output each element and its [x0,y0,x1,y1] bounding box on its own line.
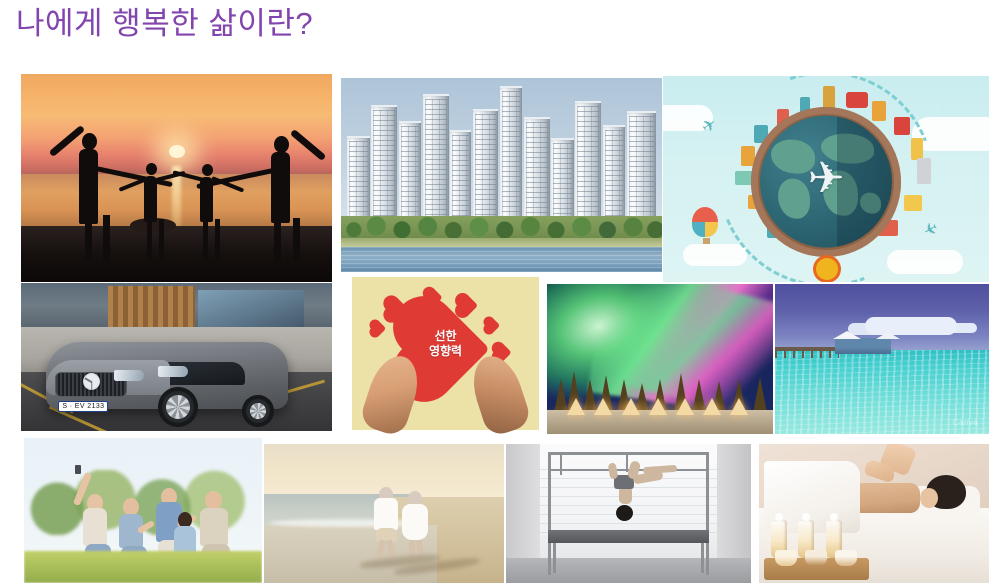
image-caption: 강변의 고층 아파트 단지 스카이라인 [341,271,342,272]
cloud-icon [683,244,747,266]
image-family-sunset-silhouette[interactable]: 해변에서 손을 잡고 팔을 들어올린 가족 실루엣과 일몰 [21,74,332,282]
apartment-tower [575,101,601,221]
apartment-tower [603,125,625,222]
apartment-tower [450,130,471,221]
child-one-torso [144,176,157,222]
teepee-tent [703,398,721,415]
image-aurora-borealis-camp[interactable]: 오로라가 펼쳐진 설원의 텐트 캠프 [547,284,773,434]
child-two-leg-right [215,219,220,261]
child-one-leg-right [159,219,164,261]
apparatus-top-bar [548,452,710,455]
apparatus-strap [560,452,562,474]
smartphone-icon [75,465,81,474]
world-travel-artwork: ✈ ✈ ✈ ✈ [663,76,989,282]
apartment-tower [551,138,573,221]
river [341,247,662,272]
heart-icon [484,318,500,334]
adult-left-torso [79,149,98,224]
apparatus-leg [701,543,704,574]
image-caption: 에메랄드빛 바다와 수상 방갈로 리조트 [775,433,776,434]
temple-icon [894,117,910,135]
image-collage: 해변에서 손을 잡고 팔을 들어올린 가족 실루엣과 일몰 강변의 고층 아파트… [0,0,989,583]
paper-background: 선한 영향력 [352,277,539,430]
image-luxury-car[interactable]: S · EV 2133 회색 메르세데스-벤츠 세단 [21,283,332,431]
teepee-tent [622,398,640,415]
apparatus-strap [626,452,628,471]
apartment-tower [473,109,499,222]
white-shirt [374,498,398,530]
car-wheel [158,387,198,427]
tropical-lagoon-artwork: Canva [775,284,989,434]
apartment-tower [423,94,449,222]
adult-right-leg-right [293,218,300,262]
child-one-leg-left [147,219,152,261]
castle-icon [911,138,923,160]
image-caption: 오로라가 펼쳐진 설원의 텐트 캠프 [547,433,548,434]
grass-foreground [24,551,262,583]
image-caption: 두 손으로 감싼 빨간 하트와 하트들 [345,436,346,437]
double-decker-bus-icon [846,92,868,108]
image-caption: 회색 메르세데스-벤츠 세단 [21,430,22,431]
senior-beach-artwork [264,444,504,583]
adult-right-leg-left [274,218,281,262]
heart-icon [457,295,478,316]
overwater-bungalow [835,338,891,354]
oil-bowl [805,550,827,566]
family-sunset-artwork [21,74,332,282]
apartment-tower [524,117,550,222]
good-influence-artwork: 선한 영향력 [345,272,545,437]
apparatus-bed [548,530,710,543]
torso [83,508,107,546]
head [205,491,222,510]
stadium-icon [904,195,922,211]
studio-floor [506,558,751,583]
oil-bowl [835,550,857,566]
oil-bowl [775,550,797,566]
apartment-tower [399,121,421,222]
bungalow-roof [876,332,900,339]
white-dress [402,504,428,540]
image-pilates-studio[interactable]: 필라테스 캐딜락 기구에서 운동하는 여성 [506,444,751,583]
image-city-apartments-skyline[interactable]: 강변의 고층 아파트 단지 스카이라인 [341,78,662,272]
glass-panel [198,290,304,330]
luxury-car-artwork: S · EV 2133 [21,283,332,431]
watermark-label: Canva [953,418,979,427]
apartment-tower [627,111,656,222]
image-spa-massage[interactable]: 아로마 오일과 마사지를 받는 스파 장면 [759,444,989,583]
adult-left-head [82,133,97,150]
sun-icon [816,258,838,280]
spa-massage-artwork [759,444,989,583]
teepee-tent [676,398,694,415]
pilates-artwork [506,444,751,583]
wooden-pier [775,347,839,351]
image-caption: 해변에서 손을 잡고 팔을 들어올린 가족 실루엣과 일몰 [21,281,22,282]
adult-right-raised-arm [289,129,326,161]
continent-shape [778,179,810,219]
adult-left-leg-left [85,215,92,261]
image-family-selfie-park[interactable]: 공원 잔디에 앉아 셀카를 찍는 삼대 가족 [24,438,262,583]
license-plate: S · EV 2133 [58,401,108,412]
adult-right-torso [271,152,290,223]
teepee-tent [649,398,667,415]
family-selfie-artwork [24,438,262,583]
torso [200,508,228,546]
image-world-travel-illustration[interactable]: ✈ ✈ ✈ ✈ 세계 여행 일러스트 - 지구와 랜드마크, 비행기 [663,76,989,282]
teepee-tent [730,398,748,415]
parthenon-icon [917,158,931,184]
globe-shading [837,116,892,248]
apartment-tower [500,86,522,222]
image-caption: 세계 여행 일러스트 - 지구와 랜드마크, 비행기 [663,281,664,282]
hot-air-balloon-icon [692,207,718,237]
child-one-head [146,163,157,175]
car-wheel [242,395,274,427]
headlight [158,366,188,377]
image-tropical-lagoon-resort[interactable]: Canva 에메랄드빛 바다와 수상 방갈로 리조트 [775,284,989,434]
heart-icon [370,321,386,337]
apartment-tower [371,105,397,221]
child-two-head [202,164,213,176]
bungalow-roof [833,331,861,339]
heart-label: 선한 영향력 [429,329,462,359]
adult-left-leg-right [103,215,110,261]
aurora-artwork [547,284,773,434]
image-good-influence-heart[interactable]: 선한 영향력 두 손으로 감싼 빨간 하트와 하트들 [345,272,545,437]
airplane-icon: ✈ [808,157,845,201]
child-two-leg-left [203,219,208,261]
headlight [114,370,144,381]
adult-right-head [274,136,289,153]
family-silhouettes [21,74,332,282]
teepee-tent [594,398,612,415]
teepee-tent [567,398,585,415]
apparatus-leg [553,543,556,574]
apartment-tower [347,136,369,221]
image-senior-couple-beach[interactable]: 해변을 손잡고 걷는 노년 부부 [264,444,504,583]
city-apartments-artwork [341,78,662,272]
